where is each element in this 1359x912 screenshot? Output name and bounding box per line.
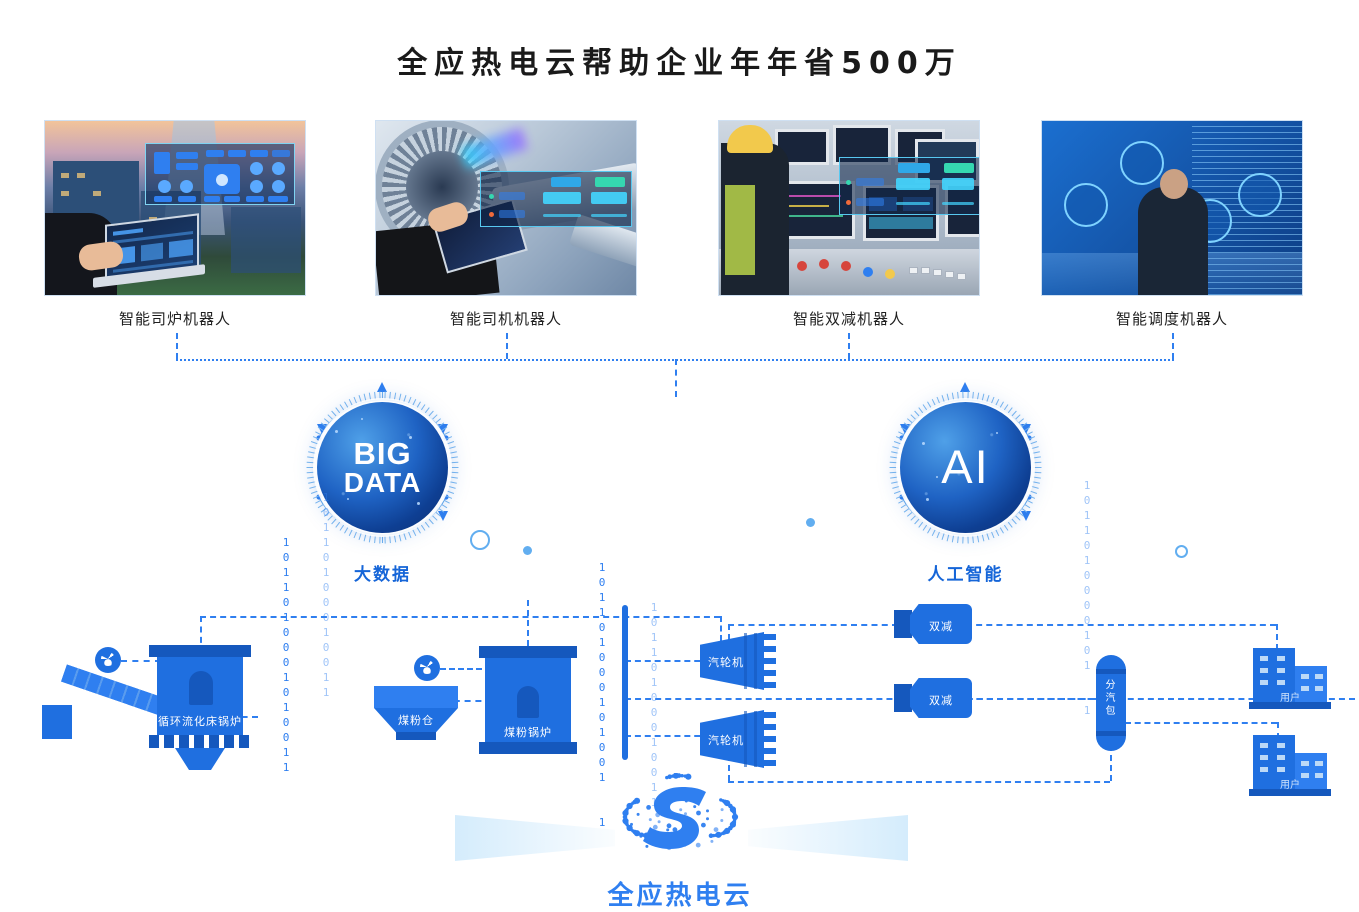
turbine-1[interactable]: 汽轮机 [700,632,776,690]
coal-bin[interactable]: 煤粉仓 [374,686,458,742]
reducer-2-label: 双减 [910,692,972,708]
photo-frame [1041,120,1303,296]
steam-main-header [622,605,628,760]
safety-helmet-shape [727,125,773,153]
binary-column-5: 1011010000101 1 [1081,478,1093,718]
sensor-icon-cfb[interactable] [95,647,121,673]
monitor-chart-icon [1238,173,1282,217]
overlay-valve-kpi-panel [839,157,980,215]
photo-card-boiler-operator[interactable]: 智能司炉机器人 [44,120,306,296]
photo-card-dual-reduction[interactable]: 智能双减机器人 [718,120,980,296]
binary-column-3: 101101000101001 1 [596,560,608,830]
page-title: 全应热电云帮助企业年年省500万 [0,38,1359,82]
photo-frame [44,120,306,296]
photo-caption-dispatch: 智能调度机器人 [1041,308,1303,329]
steam-distribution-drum[interactable]: 分汽包 [1096,655,1126,751]
turbine-2[interactable]: 汽轮机 [700,710,776,768]
ai-text: AI [941,444,989,490]
binary-column-2: 10110100010011 [320,490,332,700]
person-silhouette [1138,187,1208,296]
overlay-boiler-scada-panel [145,143,295,205]
flame-monitor-icon [1120,141,1164,185]
wire-drum-user2 [1125,722,1277,724]
turbine-2-label: 汽轮机 [694,732,758,748]
photo-frame [375,120,637,296]
beam-bigdata-to-cloud [455,815,615,861]
bigdata-sphere: BIG DATA [317,402,448,533]
bigdata-line2: DATA [344,469,422,496]
connector-stub-2 [506,333,508,359]
wire-reducer2-drum [966,698,1096,700]
wire-turbine2-bottom [728,781,1110,783]
drum-label: 分汽包 [1096,679,1126,718]
cfb-boiler-label: 循环流化床锅炉 [153,713,247,729]
reducer-2[interactable]: 双减 [894,678,972,718]
coal-hopper-shape [42,705,72,739]
bigdata-line1: BIG [353,439,411,469]
photo-card-turbine-operator[interactable]: 智能司机机器人 [375,120,637,296]
user-2-label: 用户 [1253,776,1327,791]
user-building-2[interactable]: 用户 [1253,735,1327,797]
cloud-logo-icon[interactable] [605,773,753,875]
cloud-label: 全应热电云 [570,875,790,912]
photo-card-dispatch[interactable]: 智能调度机器人 [1041,120,1303,296]
safety-vest-shape [725,185,755,275]
pc-boiler-label: 煤粉锅炉 [483,724,573,740]
reducer-1[interactable]: 双减 [894,604,972,644]
beam-cloud-to-ai [748,815,908,861]
platform-hub: BIG DATA 大数据 AI [0,375,1359,600]
ai-orb-text: AI [900,402,1031,533]
wire-turbine1-reducer1 [728,624,898,626]
photo-caption-turbine-operator: 智能司机机器人 [375,308,637,329]
decor-bubble-1 [470,530,490,550]
wire-cfb-top [200,616,720,618]
connector-stub-3 [848,333,850,359]
chart-search-icon [1064,183,1108,227]
sensor-wire-pc [440,668,482,670]
photo-caption-dual-reduction: 智能双减机器人 [718,308,980,329]
reducer-1-label: 双减 [910,618,972,634]
ai-label: 人工智能 [878,560,1053,585]
wire-reducer1-out [966,624,1276,626]
photo-card-row: 智能司炉机器人 [0,120,1359,330]
plant-building-shape-3 [231,207,301,273]
person-head-shape [1160,169,1188,199]
sensor-icon-pc[interactable] [414,655,440,681]
user-building-1[interactable]: 用户 [1253,648,1327,710]
user-1-label: 用户 [1253,689,1327,704]
binary-column-1: 1011010001010011 [280,535,292,775]
cfb-boiler[interactable]: 循环流化床锅炉 [153,645,247,757]
turbine-1-label: 汽轮机 [694,654,758,670]
bigdata-orb-text: BIG DATA [317,402,448,533]
wire-pc-up [527,600,529,646]
connector-stub-4 [1172,333,1174,359]
connector-stub-1 [176,333,178,359]
ai-orb[interactable]: AI 人工智能 [878,380,1053,555]
photo-caption-boiler-operator: 智能司炉机器人 [44,308,306,329]
binary-column-4: 10110100010011 [648,600,660,810]
decor-bubble-2 [523,546,532,555]
photo-frame [718,120,980,296]
decor-bubble-3 [806,518,815,527]
photo-image-boiler-operator [45,121,305,295]
photo-image-dispatch [1042,121,1302,295]
decor-bubble-4 [1175,545,1188,558]
overlay-turbine-kpi-panel [480,171,632,227]
coal-bin-label: 煤粉仓 [374,712,458,728]
photo-image-control-room [719,121,979,295]
wire-to-user1 [1276,624,1278,650]
photo-image-turbine-operator [376,121,636,295]
ai-sphere: AI [900,402,1031,533]
pc-boiler[interactable]: 煤粉锅炉 [483,646,573,756]
